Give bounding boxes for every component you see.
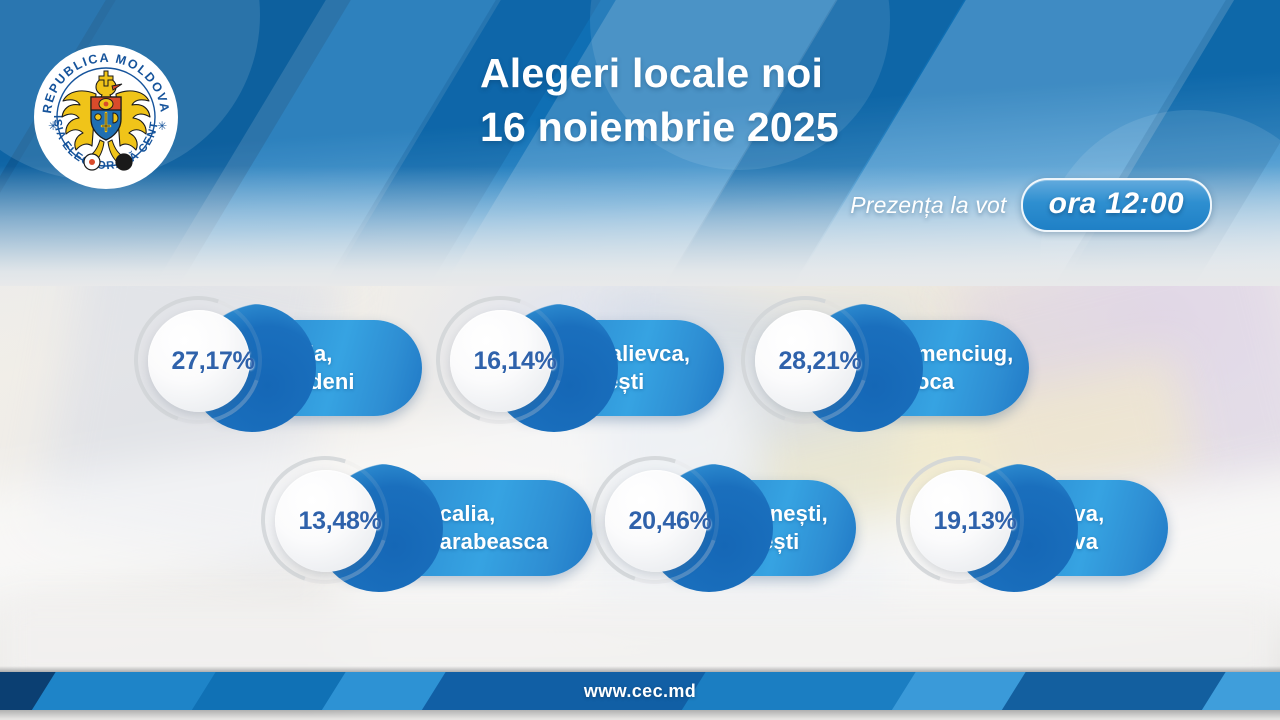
turnout-card[interactable]: Ustia, Glodeni 27,17% [128,292,428,442]
location-line-2: Glodeni [272,368,355,396]
title-line-1: Alegeri locale noi [480,46,1240,100]
location-line-2: Soroca [879,368,1013,396]
location-line-2: Leova [1034,528,1104,556]
location-line-2: Basarabeasca [399,528,548,556]
turnout-card[interactable]: Leova, Leova 19,13% [890,452,1190,602]
turnout-percentage: 27,17% [172,347,255,376]
infographic-stage: REPUBLICA MOLDOVA COMISIA ELECTORALĂ CEN… [0,0,1280,720]
turnout-percentage: 20,46% [629,507,712,536]
turnout-card-disc: 20,46% [605,470,707,572]
turnout-label: Prezența la vot [850,192,1006,219]
location-line-1: Natalievca, [574,340,690,368]
turnout-card[interactable]: Natalievca, Fălești 16,14% [430,292,730,442]
turnout-percentage: 19,13% [934,507,1017,536]
location-line-1: Ustia, [272,340,355,368]
location-line-1: Leova, [1034,500,1104,528]
location-line-2: Fălești [574,368,690,396]
turnout-time-row: Prezența la vot ora 12:00 [850,178,1212,232]
page-title: Alegeri locale noi 16 noiembrie 2025 [480,46,1240,154]
turnout-card[interactable]: Cremenciug, Soroca 28,21% [735,292,1035,442]
turnout-card-disc: 16,14% [450,310,552,412]
footer-website[interactable]: www.cec.md [0,672,1280,710]
turnout-card-disc: 13,48% [275,470,377,572]
turnout-card-disc: 28,21% [755,310,857,412]
title-line-2: 16 noiembrie 2025 [480,100,1240,154]
footer-bottom-shadow [0,710,1280,720]
turnout-percentage: 28,21% [779,347,862,376]
turnout-card-disc: 27,17% [148,310,250,412]
time-badge: ora 12:00 [1021,178,1212,232]
turnout-percentage: 13,48% [299,507,382,536]
turnout-card[interactable]: Călinești, Fălești 20,46% [585,452,885,602]
location-line-2: Fălești [729,528,828,556]
turnout-card-disc: 19,13% [910,470,1012,572]
cec-moldova-emblem-icon: REPUBLICA MOLDOVA COMISIA ELECTORALĂ CEN… [33,44,179,190]
svg-text:✳: ✳ [48,119,58,133]
location-line-1: Cremenciug, [879,340,1013,368]
time-badge-label: ora 12:00 [1049,187,1184,220]
turnout-percentage: 16,14% [474,347,557,376]
svg-text:✳: ✳ [157,119,167,133]
location-line-1: Călinești, [729,500,828,528]
location-line-1: Bașcalia, [399,500,548,528]
turnout-card[interactable]: Bașcalia, Basarabeasca 13,48% [255,452,585,602]
